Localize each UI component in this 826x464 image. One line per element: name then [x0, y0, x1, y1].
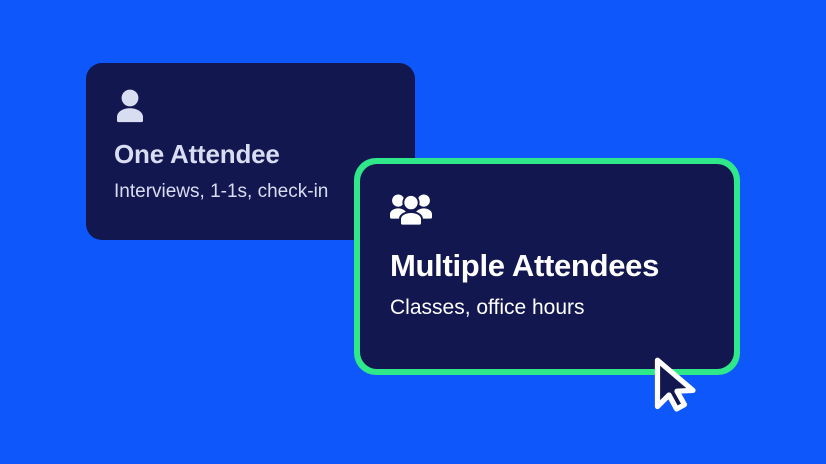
option-card-multiple-attendees[interactable]: Multiple Attendees Classes, office hours	[360, 164, 734, 369]
group-people-icon	[390, 192, 432, 226]
option-card-multiple-attendees-selected-outline[interactable]: Multiple Attendees Classes, office hours	[354, 158, 740, 375]
single-person-icon	[114, 89, 146, 123]
option-card-subtitle: Classes, office hours	[390, 296, 734, 320]
option-card-title: Multiple Attendees	[390, 248, 734, 284]
attendee-option-picker: One Attendee Interviews, 1-1s, check-in	[0, 0, 826, 464]
